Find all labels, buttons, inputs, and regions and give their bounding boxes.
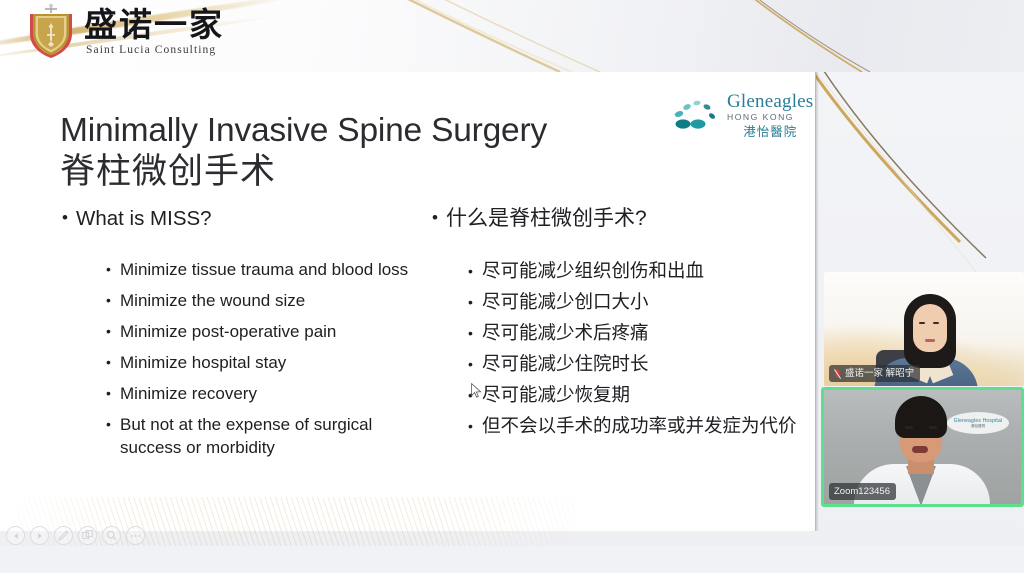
bullet-item: Minimize the wound size [106,289,437,312]
wall-sign-line2: 港怡醫院 [971,424,985,429]
eye-right [933,322,939,324]
participant-name-text-1: 盛诺一家 解昭宁 [845,367,914,380]
next-slide-button[interactable] [30,526,49,545]
participant-name-label-1: 盛诺一家 解昭宁 [829,365,920,382]
bullet-item: Minimize tissue trauma and blood loss [106,258,437,281]
shield-crest-icon [26,3,76,61]
mic-muted-icon [834,369,841,379]
slide-control-toolbar[interactable] [6,526,145,545]
presentation-slide[interactable]: Gleneagles HONG KONG 港怡醫院 Minimally Inva… [0,72,816,531]
eye-left [919,322,925,324]
bullet-item: 尽可能减少住院时长 [468,351,804,377]
hospital-wall-sign: Gleneagles Hospital 港怡醫院 [947,412,1009,434]
triangle-right-icon [36,532,44,540]
mouth [912,446,928,453]
slide-title-cn: 脊柱微创手术 [60,151,547,192]
slide-column-chinese: 什么是脊柱微创手术? 尽可能减少组织创伤和出血 尽可能减少创口大小 尽可能减少术… [432,206,804,444]
gleneagles-logo: Gleneagles HONG KONG 港怡醫院 [673,88,807,142]
video-tile-participant-1[interactable]: 盛诺一家 解昭宁 [824,272,1024,386]
previous-slide-button[interactable] [6,526,25,545]
bullet-item: 尽可能减少术后疼痛 [468,320,804,346]
face [913,304,947,352]
bullet-item: 尽可能减少组织创伤和出血 [468,258,804,284]
bullet-item: 但不会以手术的成功率或并发症为代价 [468,413,804,439]
more-options-button[interactable] [126,526,145,545]
gleneagles-dots-icon [673,98,717,132]
slide-title: Minimally Invasive Spine Surgery 脊柱微创手术 [60,110,547,192]
thumbnails-button[interactable] [78,526,97,545]
bullet-list: Minimize tissue trauma and blood loss Mi… [62,258,437,459]
eye-right [929,426,937,429]
eye-left [905,426,913,429]
hospital-name-cn: 港怡醫院 [727,126,813,139]
participant-name-text-2: Zoom123456 [834,485,890,498]
magnifier-icon [106,530,117,541]
arrow-cursor [471,383,482,398]
bullet-item: Minimize post-operative pain [106,320,437,343]
bullet-list: 尽可能减少组织创伤和出血 尽可能减少创口大小 尽可能减少术后疼痛 尽可能减少住院… [432,258,804,439]
bullet-item: Minimize recovery [106,382,437,405]
shared-screen-area: Gleneagles HONG KONG 港怡醫院 Minimally Inva… [0,72,1024,573]
bullet-item: 尽可能减少创口大小 [468,289,804,315]
video-tile-participant-2[interactable]: Gleneagles Hospital 港怡醫院 Zoom123456 [821,387,1024,507]
slide-column-english: What is MISS? Minimize tissue trauma and… [62,206,437,467]
footer-band [0,546,1024,573]
screen: 盛诺一家 Saint Lucia Consulting [0,0,1024,573]
bullet-item: Minimize hospital stay [106,351,437,374]
participant-name-label-2: Zoom123456 [829,483,896,500]
hospital-subtitle: HONG KONG [727,113,813,122]
bullet-item: But not at the expense of surgical succe… [106,413,437,459]
ellipsis-icon [130,534,141,538]
mouth [925,339,935,342]
layers-icon [82,530,93,541]
triangle-left-icon [12,532,20,540]
column-heading: What is MISS? [62,206,437,232]
hospital-name: Gleneagles [727,92,813,111]
brand-header: 盛诺一家 Saint Lucia Consulting [0,0,1024,72]
column-heading: 什么是脊柱微创手术? [432,206,804,232]
annotate-button[interactable] [54,526,73,545]
slide-title-en: Minimally Invasive Spine Surgery [60,112,547,149]
bullet-item: 尽可能减少恢复期 [468,382,804,408]
brand-name-en: Saint Lucia Consulting [86,44,216,56]
slide-edge-shadow [816,72,819,531]
brand-name-cn: 盛诺一家 [84,6,224,44]
zoom-button[interactable] [102,526,121,545]
pen-icon [57,529,70,542]
